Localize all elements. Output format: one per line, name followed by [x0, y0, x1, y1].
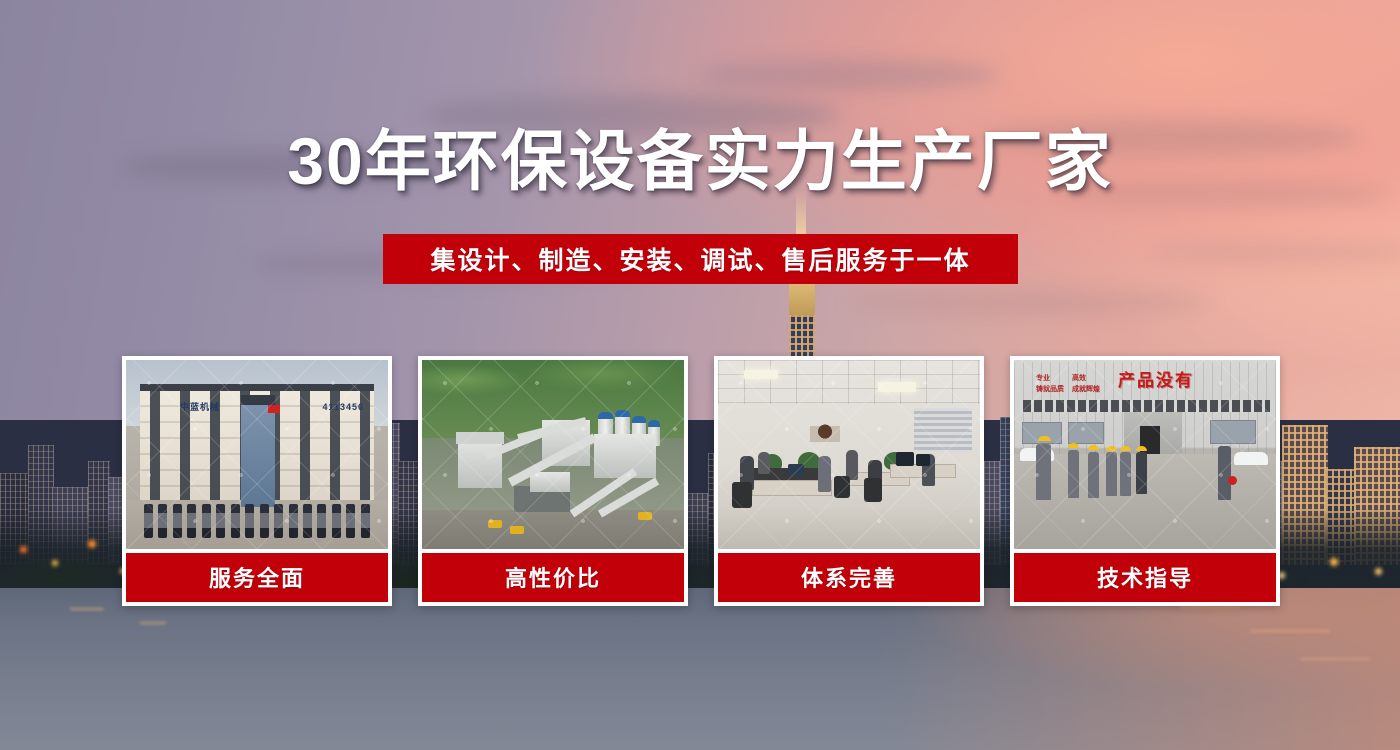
card-caption-bar: 体系完善: [718, 553, 980, 602]
factory-side-slogan-2: 高效: [1072, 374, 1100, 385]
factory-workers-training-photo: 产品没有 专业 铸就品质 高效 成就辉煌: [1014, 360, 1276, 549]
subtitle-banner: 集设计、制造、安装、调试、售后服务于一体: [383, 234, 1018, 284]
aerial-industrial-plant-photo: [422, 360, 684, 549]
promo-banner-stage: 30年环保设备实力生产厂家 集设计、制造、安装、调试、售后服务于一体 中蓝机械 …: [0, 0, 1400, 750]
company-building-staff-photo: 中蓝机械 4113456: [126, 360, 388, 549]
river-water: [0, 588, 1400, 750]
card-caption-text: 高性价比: [505, 561, 601, 593]
factory-side-slogan-1: 专业: [1036, 374, 1064, 385]
card-caption-bar: 服务全面: [126, 553, 388, 602]
building-phone-sign: 4113456: [322, 402, 364, 412]
subtitle-text: 集设计、制造、安装、调试、售后服务于一体: [430, 241, 970, 277]
factory-side-slogan-3: 铸就品质: [1036, 385, 1064, 396]
card-caption-bar: 高性价比: [422, 553, 684, 602]
feature-card[interactable]: 产品没有 专业 铸就品质 高效 成就辉煌: [1010, 356, 1280, 606]
feature-card[interactable]: 中蓝机械 4113456 服务全面: [122, 356, 392, 606]
factory-wall-slogan: 产品没有: [1118, 366, 1194, 391]
card-caption-text: 技术指导: [1097, 561, 1193, 593]
card-caption-bar: 技术指导: [1014, 553, 1276, 602]
card-caption-text: 服务全面: [209, 561, 305, 593]
office-interior-staff-photo: [718, 360, 980, 549]
building-company-sign: 中蓝机械: [180, 400, 220, 413]
feature-card-list: 中蓝机械 4113456 服务全面: [122, 356, 1278, 606]
card-caption-text: 体系完善: [801, 561, 897, 593]
feature-card[interactable]: 高性价比: [418, 356, 688, 606]
factory-side-slogan-4: 成就辉煌: [1072, 385, 1100, 396]
feature-card[interactable]: 体系完善: [714, 356, 984, 606]
page-title: 30年环保设备实力生产厂家: [0, 128, 1400, 194]
